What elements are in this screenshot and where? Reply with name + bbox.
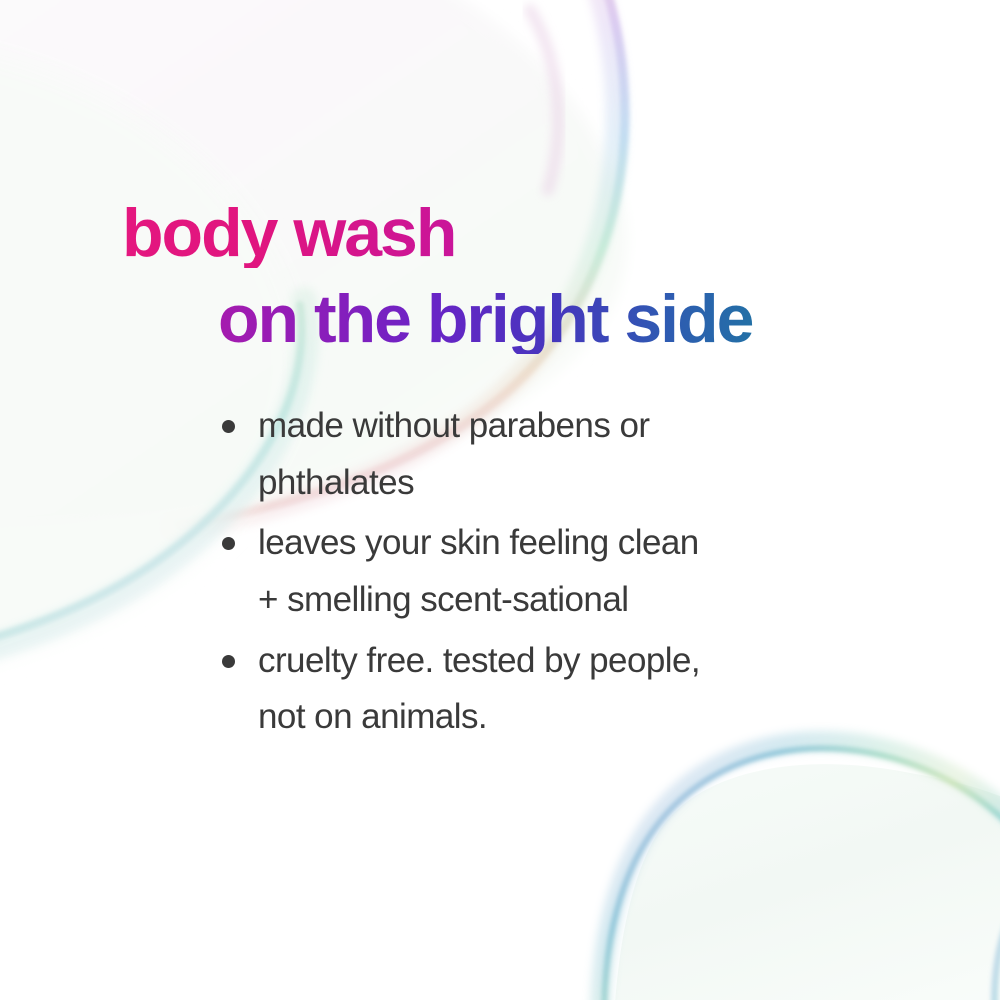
headline-line-2: on the bright side bbox=[218, 284, 1000, 354]
benefits-list: made without parabens or phthalates leav… bbox=[212, 398, 912, 750]
list-item: cruelty free. tested by people, not on a… bbox=[212, 633, 912, 746]
list-item: leaves your skin feeling clean + smellin… bbox=[212, 515, 912, 628]
promo-graphic: body wash on the bright side made withou… bbox=[0, 0, 1000, 1000]
bullet-dot-icon bbox=[222, 537, 235, 550]
headline-line-1: body wash bbox=[122, 198, 1000, 268]
headline: body wash on the bright side bbox=[0, 198, 1000, 354]
soap-bubble-bottom-right bbox=[600, 741, 1000, 1000]
list-item-label: made without parabens or phthalates bbox=[258, 398, 912, 511]
bullet-dot-icon bbox=[222, 655, 235, 668]
list-item: made without parabens or phthalates bbox=[212, 398, 912, 511]
list-item-label: leaves your skin feeling clean + smellin… bbox=[258, 515, 912, 628]
list-item-label: cruelty free. tested by people, not on a… bbox=[258, 633, 912, 746]
bullet-dot-icon bbox=[222, 420, 235, 433]
